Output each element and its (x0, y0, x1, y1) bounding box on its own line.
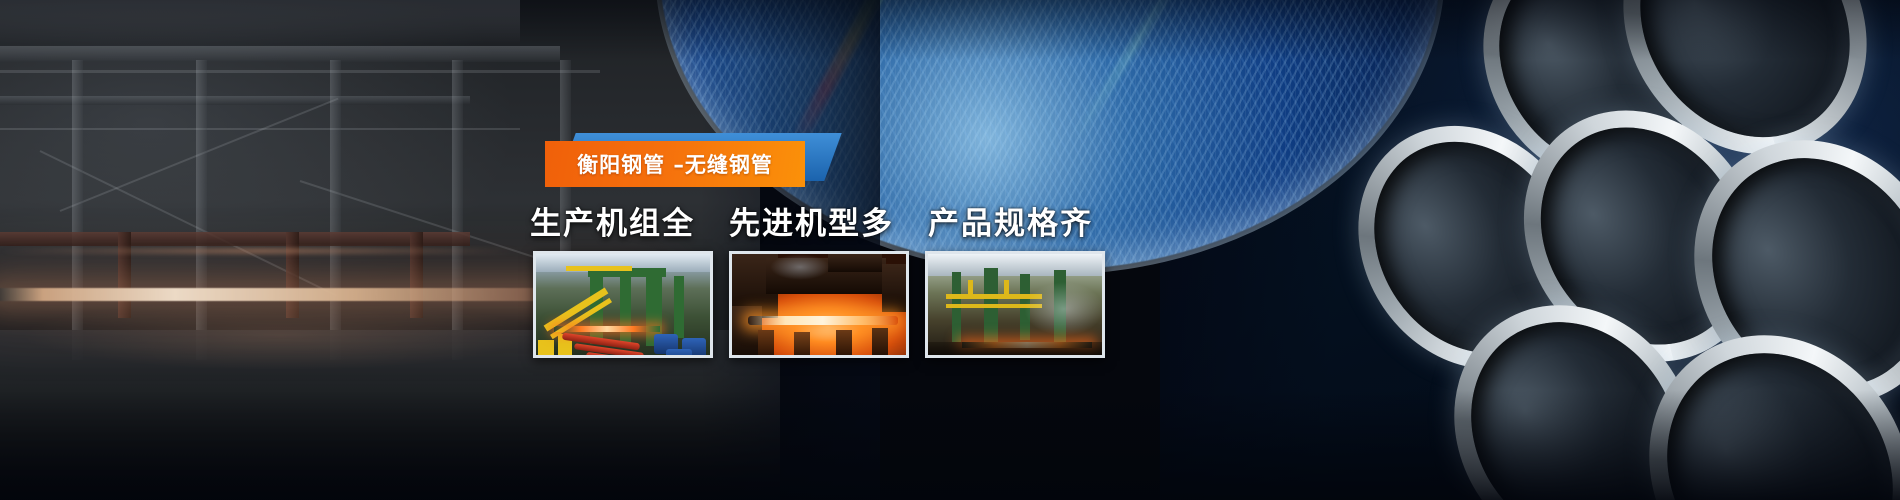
thumb1-frame (674, 276, 684, 338)
thumb2-roller (872, 328, 888, 356)
thumb2-smoke (770, 254, 830, 280)
slogan-item-1: 生产机组全 (530, 198, 695, 243)
thumb1-motor (666, 349, 692, 358)
banner-stage: 衡阳钢管 –无缝钢管 生产机组全 先进机型多 产品规格齐 (0, 0, 1900, 500)
slogan-row: 生产机组全 先进机型多 产品规格齐 (530, 198, 1150, 243)
thumb1-handrail (566, 266, 632, 271)
ribbon-banner: 衡阳钢管 –无缝钢管 (545, 133, 845, 189)
thumb3-smoke (1024, 282, 1104, 336)
thumbnail-mill-interior[interactable] (925, 251, 1105, 358)
thumb2-hot-billet (748, 316, 898, 325)
thumbnail-rolling-mill[interactable] (533, 251, 713, 358)
thumb2-roller (794, 332, 810, 356)
thumbnail-row (533, 251, 1105, 358)
thumb3-railing (968, 280, 973, 296)
thumbnail-hot-furnace[interactable] (729, 251, 909, 358)
thumb1-hot-billet (554, 326, 660, 332)
thumb1-frame (620, 274, 631, 344)
ribbon-orange-plate: 衡阳钢管 –无缝钢管 (545, 141, 805, 187)
ribbon-title: 衡阳钢管 –无缝钢管 (577, 149, 773, 179)
thumb2-machine-housing (828, 254, 882, 272)
thumb3-railing (1004, 280, 1009, 296)
thumb2-machine-housing (882, 264, 909, 312)
thumb1-motor (682, 338, 706, 358)
slogan-item-3: 产品规格齐 (928, 198, 1093, 243)
thumb3-dark-foreground (928, 342, 1105, 358)
thumb2-roller (758, 330, 774, 356)
thumb2-roller (836, 330, 852, 356)
thumb1-handrail (538, 340, 554, 358)
banner-content: 衡阳钢管 –无缝钢管 生产机组全 先进机型多 产品规格齐 (0, 0, 1900, 500)
slogan-item-2: 先进机型多 (729, 198, 894, 243)
